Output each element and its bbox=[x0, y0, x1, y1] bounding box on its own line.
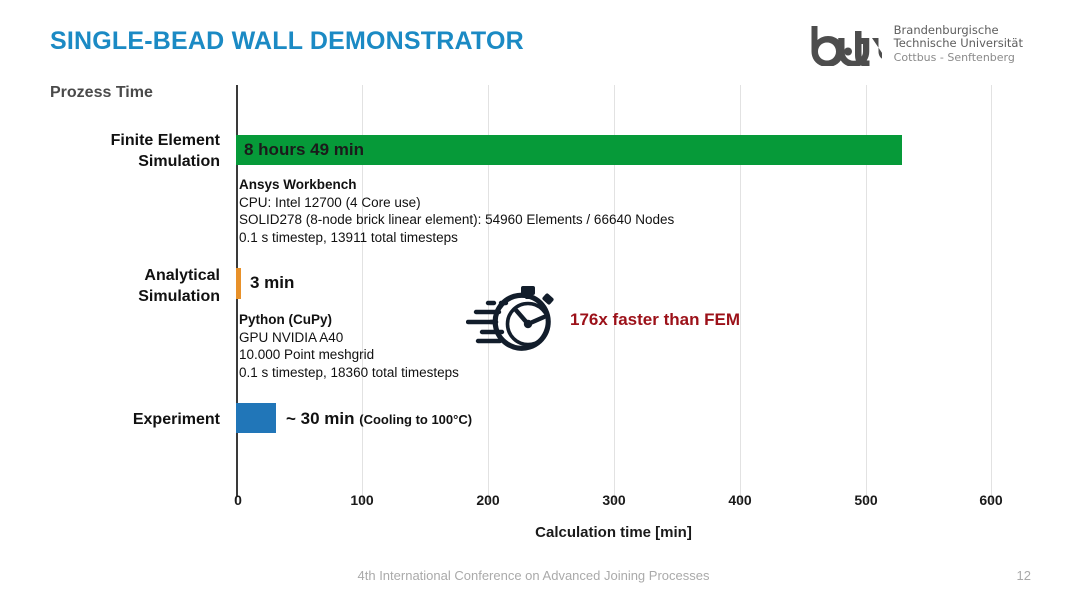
annotation-fem-line-4: 0.1 s timestep, 13911 total timesteps bbox=[239, 229, 674, 247]
annotation-fem-line-2: CPU: Intel 12700 (4 Core use) bbox=[239, 194, 674, 212]
x-tick-label-100: 100 bbox=[350, 492, 373, 508]
footer-page-number: 12 bbox=[1017, 568, 1031, 583]
bar-value-analytical: 3 min bbox=[250, 273, 294, 293]
footer-conference: 4th International Conference on Advanced… bbox=[0, 568, 1067, 583]
annotation-analytical-line-2: GPU NVIDIA A40 bbox=[239, 329, 459, 347]
x-tick-label-300: 300 bbox=[602, 492, 625, 508]
x-tick-label-0: 0 bbox=[234, 492, 242, 508]
btu-logo: Brandenburgische Technische Universität … bbox=[796, 22, 1023, 66]
category-label-analytical-line2: Simulation bbox=[40, 286, 220, 307]
bar-analytical-simulation[interactable] bbox=[236, 268, 241, 299]
btu-logo-text: Brandenburgische Technische Universität … bbox=[894, 24, 1023, 65]
x-tick-label-500: 500 bbox=[854, 492, 877, 508]
annotation-fem-line-3: SOLID278 (8-node brick linear element): … bbox=[239, 211, 674, 229]
x-tick-label-200: 200 bbox=[476, 492, 499, 508]
logo-line-1: Brandenburgische bbox=[894, 24, 1023, 38]
category-label-fem: Finite Element Simulation bbox=[40, 130, 220, 172]
bar-value-experiment: ~ 30 min (Cooling to 100°C) bbox=[286, 409, 472, 429]
x-axis-title: Calculation time [min] bbox=[236, 524, 991, 541]
btu-logo-icon bbox=[796, 22, 882, 66]
bar-value-experiment-main: ~ 30 min bbox=[286, 409, 355, 428]
annotation-analytical-line-1: Python (CuPy) bbox=[239, 311, 459, 329]
bar-value-experiment-note: (Cooling to 100°C) bbox=[359, 412, 472, 427]
bar-value-fem: 8 hours 49 min bbox=[236, 140, 364, 160]
annotation-analytical-line-3: 10.000 Point meshgrid bbox=[239, 346, 459, 364]
category-label-fem-line2: Simulation bbox=[40, 151, 220, 172]
category-label-analytical: Analytical Simulation bbox=[40, 265, 220, 307]
gridline-600 bbox=[991, 85, 992, 496]
chart-corner-label: Prozess Time bbox=[50, 84, 153, 102]
logo-line-3: Cottbus - Senftenberg bbox=[894, 51, 1023, 65]
annotation-fem-line-1: Ansys Workbench bbox=[239, 176, 674, 194]
category-label-experiment-line1: Experiment bbox=[40, 409, 220, 430]
category-label-experiment: Experiment bbox=[40, 409, 220, 430]
bar-experiment[interactable] bbox=[236, 403, 276, 433]
x-tick-label-400: 400 bbox=[728, 492, 751, 508]
annotation-analytical: Python (CuPy) GPU NVIDIA A40 10.000 Poin… bbox=[239, 311, 459, 381]
bar-finite-element-simulation[interactable]: 8 hours 49 min bbox=[236, 135, 902, 165]
speed-callout-text: 176x faster than FEM bbox=[570, 310, 740, 330]
stopwatch-icon bbox=[466, 284, 558, 356]
category-label-fem-line1: Finite Element bbox=[40, 130, 220, 151]
annotation-fem: Ansys Workbench CPU: Intel 12700 (4 Core… bbox=[239, 176, 674, 246]
speed-callout: 176x faster than FEM bbox=[466, 284, 740, 356]
category-label-analytical-line1: Analytical bbox=[40, 265, 220, 286]
logo-line-2: Technische Universität bbox=[894, 37, 1023, 51]
page-title: SINGLE-BEAD WALL DEMONSTRATOR bbox=[50, 27, 524, 56]
annotation-analytical-line-4: 0.1 s timestep, 18360 total timesteps bbox=[239, 364, 459, 382]
x-tick-label-600: 600 bbox=[979, 492, 1002, 508]
